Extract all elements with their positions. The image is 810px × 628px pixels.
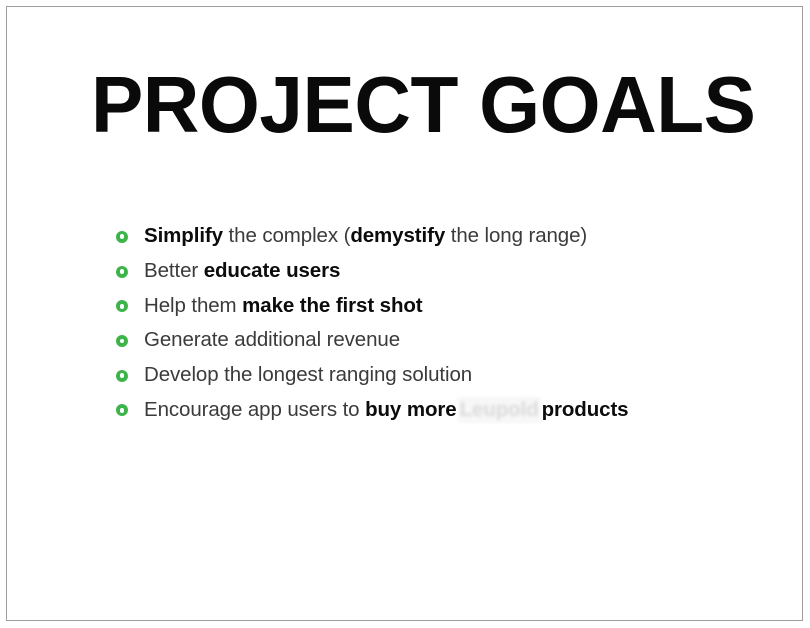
list-item: Simplify the complex (demystify the long… (116, 219, 756, 254)
list-item-segment-bold: products (542, 398, 629, 421)
list-item-segment: Generate additional revenue (144, 328, 400, 351)
goals-bullet-list: Simplify the complex (demystify the long… (116, 219, 756, 427)
slide-frame-border: PROJECT GOALS Simplify the complex (demy… (6, 6, 803, 621)
list-item-segment: Better (144, 259, 204, 282)
list-item-text: Better educate users (144, 258, 340, 284)
list-item-segment-bold: buy more (365, 398, 456, 421)
list-item: Help them make the first shot (116, 288, 756, 323)
circle-ring-bullet-icon (116, 300, 128, 312)
redacted-brand-word: Leupold (458, 397, 541, 423)
page-title: PROJECT GOALS (91, 61, 755, 149)
list-item-segment: the complex ( (223, 224, 350, 247)
list-item-segment-bold: make the first shot (242, 294, 422, 317)
list-item-segment-bold: Simplify (144, 224, 223, 247)
list-item-text: Encourage app users to buy moreLeupoldpr… (144, 397, 628, 423)
slide-content-area: PROJECT GOALS Simplify the complex (demy… (7, 7, 802, 620)
slide-canvas: PROJECT GOALS Simplify the complex (demy… (0, 0, 810, 628)
list-item: Develop the longest ranging solution (116, 358, 756, 393)
list-item-text: Generate additional revenue (144, 327, 400, 353)
list-item-text: Simplify the complex (demystify the long… (144, 223, 587, 249)
circle-ring-bullet-icon (116, 335, 128, 347)
list-item-segment: Help them (144, 294, 242, 317)
list-item: Encourage app users to buy moreLeupoldpr… (116, 392, 756, 427)
list-item-segment: Develop the longest ranging solution (144, 363, 472, 386)
circle-ring-bullet-icon (116, 370, 128, 382)
list-item-segment-bold: demystify (350, 224, 445, 247)
list-item-segment: the long range) (445, 224, 587, 247)
list-item-text: Help them make the first shot (144, 293, 423, 319)
list-item: Better educate users (116, 254, 756, 289)
circle-ring-bullet-icon (116, 404, 128, 416)
circle-ring-bullet-icon (116, 231, 128, 243)
list-item-segment-bold: educate users (204, 259, 341, 282)
list-item: Generate additional revenue (116, 323, 756, 358)
circle-ring-bullet-icon (116, 266, 128, 278)
list-item-text: Develop the longest ranging solution (144, 362, 472, 388)
list-item-segment: Encourage app users to (144, 398, 365, 421)
